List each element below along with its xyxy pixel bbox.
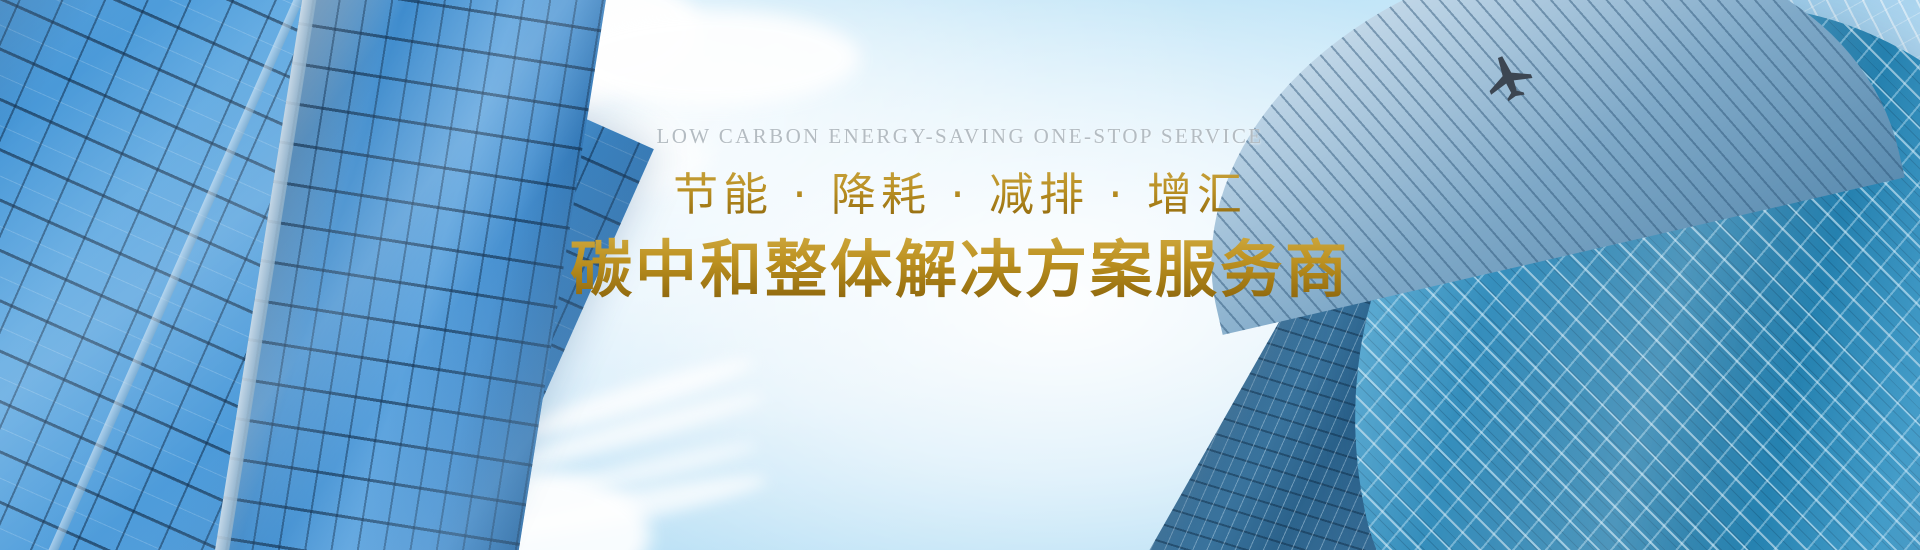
banner-eyebrow-text: LOW CARBON ENERGY-SAVING ONE-STOP SERVIC… <box>657 126 1264 147</box>
banner-subheadline: 节能 · 降耗 · 减排 · 增汇 <box>673 167 1247 223</box>
banner-text-block: LOW CARBON ENERGY-SAVING ONE-STOP SERVIC… <box>0 126 1920 306</box>
cloud-decoration <box>521 435 759 508</box>
airplane-icon <box>1478 52 1538 104</box>
hero-banner: LOW CARBON ENERGY-SAVING ONE-STOP SERVIC… <box>0 0 1920 550</box>
cloud-decoration <box>560 10 860 106</box>
banner-main-title: 碳中和整体解决方案服务商 <box>570 233 1350 306</box>
